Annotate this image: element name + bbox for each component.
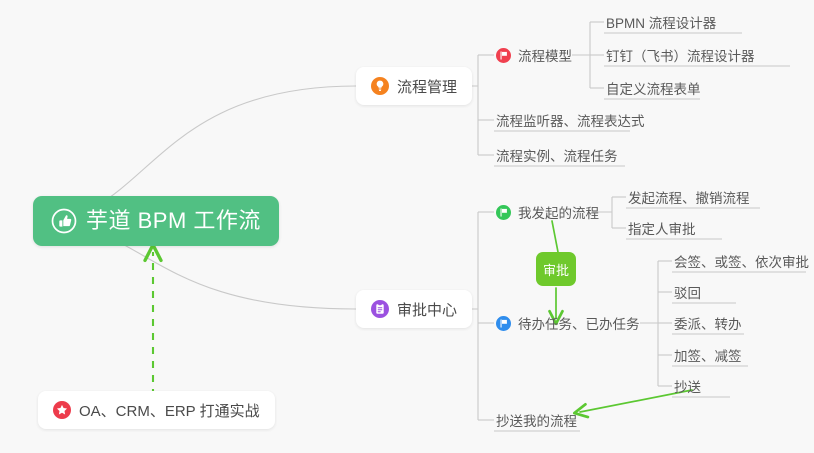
branch-approval-center[interactable]: 审批中心 (356, 290, 472, 328)
node-countersign[interactable]: 会签、或签、依次审批 (672, 248, 814, 274)
node-cc-to-me[interactable]: 抄送我的流程 (494, 407, 583, 433)
node-add-remove-sign[interactable]: 加签、减签 (672, 342, 748, 368)
node-label: 流程实例、流程任务 (496, 145, 618, 165)
star-icon (53, 401, 71, 419)
callout-label: OA、CRM、ERP 打通实战 (79, 400, 260, 421)
flag-green-icon (496, 205, 511, 220)
node-label: BPMN 流程设计器 (606, 12, 716, 32)
node-delegate[interactable]: 委派、转办 (672, 310, 748, 336)
node-label: 抄送 (674, 376, 701, 396)
node-label: 钉钉（飞书）流程设计器 (606, 45, 755, 65)
flag-blue-icon (496, 316, 511, 331)
node-label: 我发起的流程 (518, 202, 599, 222)
flag-red-icon (496, 48, 511, 63)
node-label: 加签、减签 (674, 345, 742, 365)
clipboard-icon (371, 300, 389, 318)
node-label: 发起流程、撤销流程 (628, 187, 750, 207)
lightbulb-icon (371, 77, 389, 95)
node-label: 驳回 (674, 282, 701, 302)
node-label: 抄送我的流程 (496, 410, 577, 430)
thumbs-up-icon (51, 208, 77, 234)
node-label: 委派、转办 (674, 313, 742, 333)
root-label: 芋道 BPM 工作流 (86, 210, 261, 232)
node-reject[interactable]: 驳回 (672, 279, 707, 305)
node-custom-form[interactable]: 自定义流程表单 (604, 75, 707, 101)
callout-node[interactable]: OA、CRM、ERP 打通实战 (38, 391, 275, 429)
node-label: 自定义流程表单 (606, 78, 701, 98)
node-dingtalk-designer[interactable]: 钉钉（飞书）流程设计器 (604, 42, 761, 68)
root-node[interactable]: 芋道 BPM 工作流 (33, 196, 279, 246)
node-todo-done[interactable]: 待办任务、已办任务 (494, 310, 646, 336)
node-bpmn-designer[interactable]: BPMN 流程设计器 (604, 9, 722, 35)
node-label: 会签、或签、依次审批 (674, 251, 809, 271)
node-label: 流程监听器、流程表达式 (496, 110, 645, 130)
node-my-started[interactable]: 我发起的流程 (494, 199, 605, 225)
approval-badge-label: 审批 (543, 260, 569, 279)
node-assignee-approve[interactable]: 指定人审批 (626, 215, 702, 241)
node-label: 待办任务、已办任务 (518, 313, 640, 333)
node-start-cancel[interactable]: 发起流程、撤销流程 (626, 184, 756, 210)
node-process-listener[interactable]: 流程监听器、流程表达式 (494, 107, 651, 133)
node-cc[interactable]: 抄送 (672, 373, 707, 399)
node-label: 指定人审批 (628, 218, 696, 238)
approval-badge[interactable]: 审批 (536, 252, 576, 286)
mindmap-canvas: 芋道 BPM 工作流 OA、CRM、ERP 打通实战 流程管理 (0, 0, 814, 453)
node-process-model[interactable]: 流程模型 (494, 42, 578, 68)
branch-label: 流程管理 (397, 76, 457, 97)
branch-process-management[interactable]: 流程管理 (356, 67, 472, 105)
node-process-instance[interactable]: 流程实例、流程任务 (494, 142, 624, 168)
node-label: 流程模型 (518, 45, 572, 65)
branch-label: 审批中心 (397, 299, 457, 320)
